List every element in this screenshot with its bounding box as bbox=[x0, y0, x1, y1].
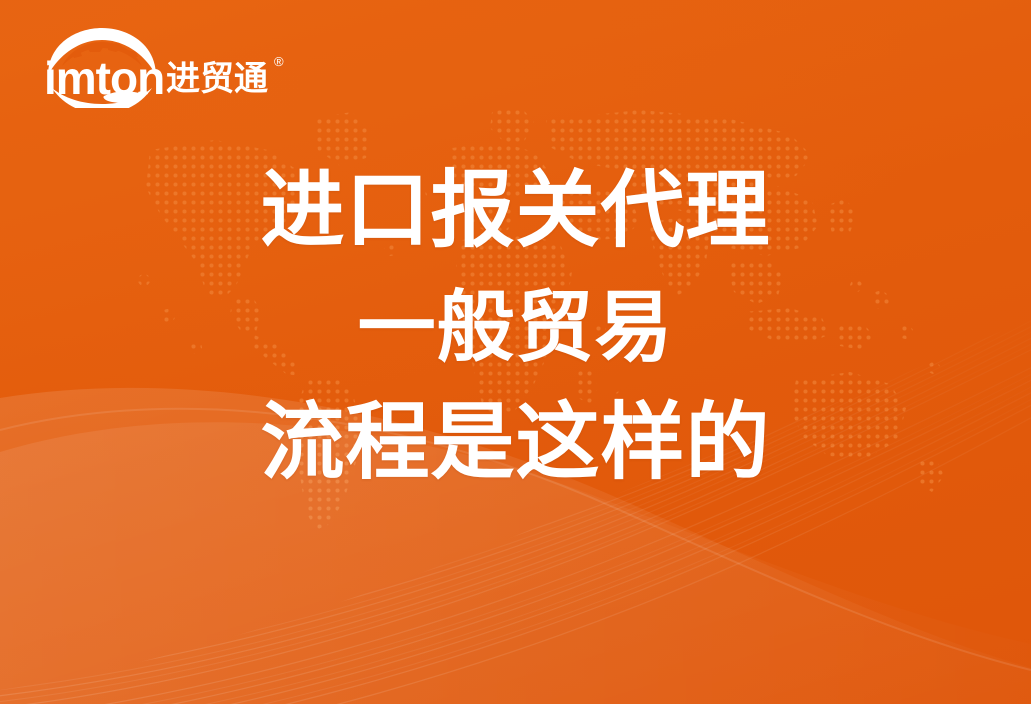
headline-block: 进口报关代理 一般贸易 流程是这样的 bbox=[0, 168, 1031, 484]
registered-trademark-icon: ® bbox=[274, 54, 284, 69]
headline-line-2: 一般贸易 bbox=[0, 288, 1031, 366]
logo-wordmark: imton bbox=[44, 52, 164, 104]
logo-chinese-name: 进贸通 bbox=[166, 60, 268, 98]
headline-line-3: 流程是这样的 bbox=[0, 400, 1031, 484]
brand-logo[interactable]: imton 进贸通 ® bbox=[42, 26, 342, 108]
headline-line-1: 进口报关代理 bbox=[0, 168, 1031, 252]
poster-canvas: imton 进贸通 ® 进口报关代理 一般贸易 流程是这样的 bbox=[0, 0, 1031, 704]
